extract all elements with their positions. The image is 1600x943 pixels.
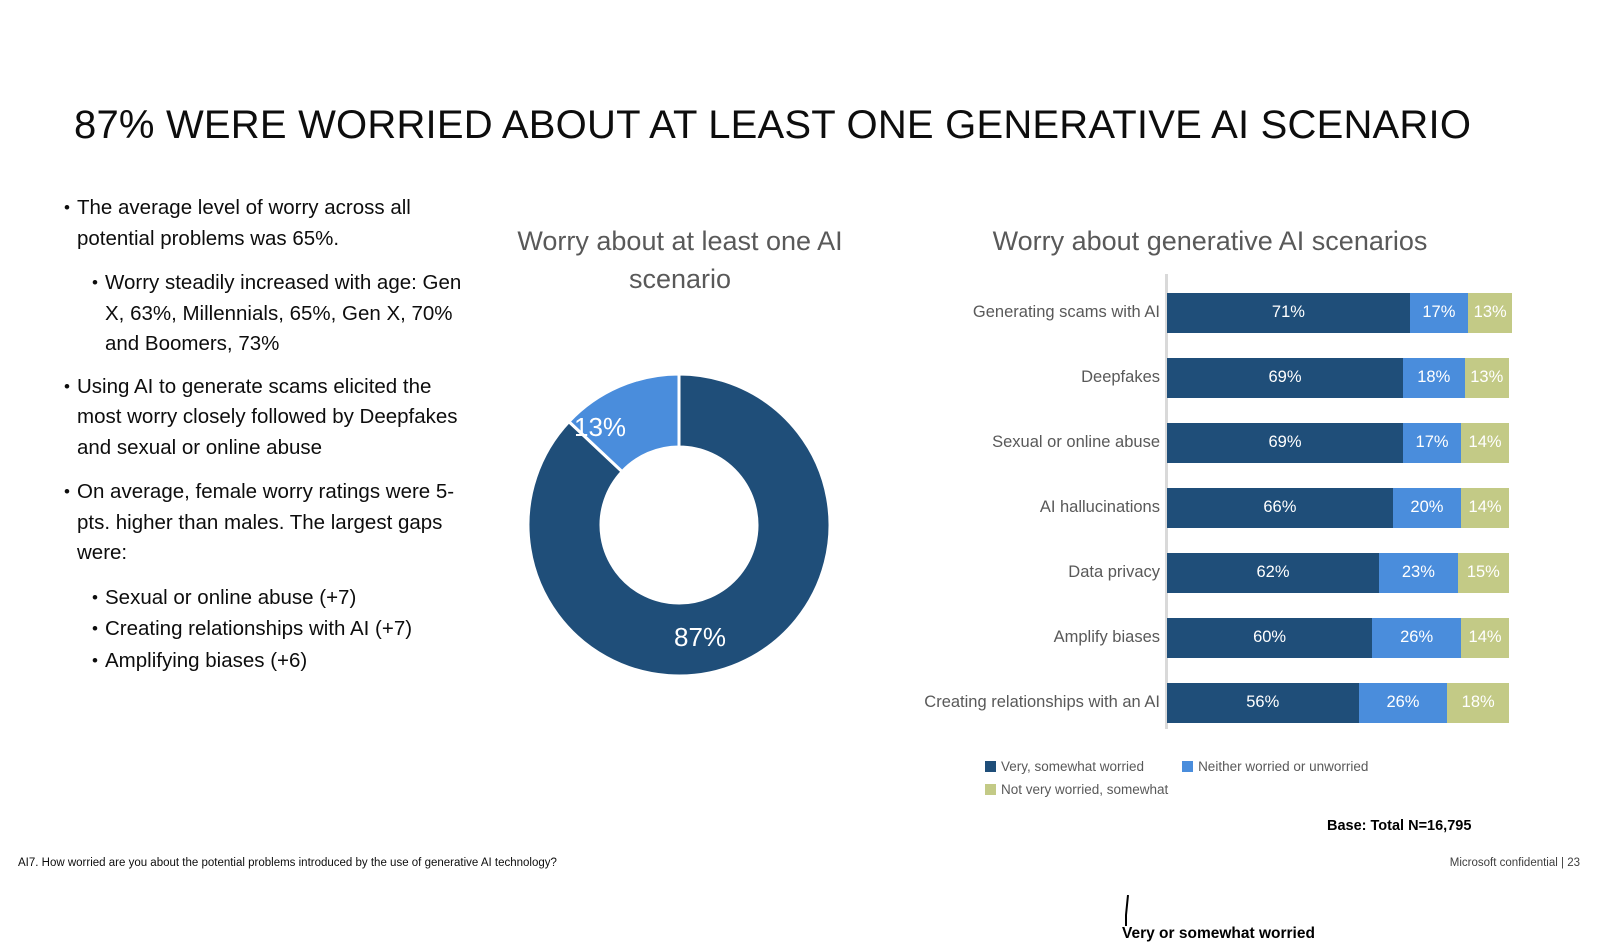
bar-segment[interactable]: 18%: [1403, 358, 1465, 398]
bar-category-label: Data privacy: [880, 563, 1167, 582]
bar-value-label: 20%: [1410, 498, 1443, 517]
legend-label: Neither worried or unworried: [1198, 759, 1368, 774]
bullet-dot-icon: •: [64, 372, 77, 403]
list-item: • On average, female worry ratings were …: [64, 477, 464, 569]
bullet-text: The average level of worry across all po…: [77, 193, 464, 254]
bar-segment[interactable]: 13%: [1465, 358, 1509, 398]
slide-canvas: 87% WERE WORRIED ABOUT AT LEAST ONE GENE…: [0, 0, 1600, 900]
bar-segment[interactable]: 26%: [1359, 683, 1448, 723]
legend-item-not-very-worried[interactable]: Not very worried, somewhat: [985, 782, 1168, 797]
bar-segment[interactable]: 13%: [1468, 293, 1512, 333]
legend-item-neither[interactable]: Neither worried or unworried: [1182, 759, 1368, 774]
bar-value-label: 13%: [1474, 303, 1507, 322]
list-item: • Using AI to generate scams elicited th…: [64, 372, 464, 464]
footer-source-note: AI7. How worried are you about the poten…: [18, 857, 557, 869]
bar-value-label: 15%: [1467, 563, 1500, 582]
bar-value-label: 13%: [1470, 368, 1503, 387]
bar-segment[interactable]: 26%: [1372, 618, 1461, 658]
bar-segment[interactable]: 15%: [1458, 553, 1509, 593]
chart-legend: Very, somewhat worried Neither worried o…: [985, 755, 1505, 801]
bullet-dot-icon: •: [64, 193, 77, 224]
bar-value-label: 18%: [1462, 693, 1495, 712]
bar-segment[interactable]: 20%: [1393, 488, 1461, 528]
bar-category-label: Amplify biases: [880, 628, 1167, 647]
donut-chart-title: Worry about at least one AI scenario: [500, 222, 860, 298]
bullet-dot-icon: •: [92, 614, 105, 645]
bar-track: 56%26%18%: [1167, 683, 1509, 723]
bar-segment[interactable]: 71%: [1167, 293, 1410, 333]
bar-chart-row: Deepfakes69%18%13%: [880, 345, 1540, 410]
legend-label: Very, somewhat worried: [1001, 759, 1144, 774]
bar-category-label: Sexual or online abuse: [880, 433, 1167, 452]
bar-chart-row: AI hallucinations66%20%14%: [880, 475, 1540, 540]
bar-segment[interactable]: 14%: [1461, 488, 1509, 528]
bar-category-label: Deepfakes: [880, 368, 1167, 387]
bar-chart-rows: Generating scams with AI71%17%13%Deepfak…: [880, 280, 1540, 735]
bar-value-label: 60%: [1253, 628, 1286, 647]
bar-chart-row: Creating relationships with an AI56%26%1…: [880, 670, 1540, 735]
bullet-list: • The average level of worry across all …: [64, 193, 464, 677]
list-item: • Creating relationships with AI (+7): [64, 614, 464, 645]
bar-segment[interactable]: 14%: [1461, 423, 1509, 463]
bar-category-label: Generating scams with AI: [880, 303, 1167, 322]
bar-value-label: 14%: [1469, 628, 1502, 647]
bar-value-label: 23%: [1402, 563, 1435, 582]
bullet-dot-icon: •: [92, 646, 105, 677]
bullet-text: Creating relationships with AI (+7): [105, 614, 464, 645]
bar-segment[interactable]: 62%: [1167, 553, 1379, 593]
bar-segment[interactable]: 60%: [1167, 618, 1372, 658]
bullet-text: On average, female worry ratings were 5-…: [77, 477, 464, 569]
bar-segment[interactable]: 14%: [1461, 618, 1509, 658]
bar-track: 62%23%15%: [1167, 553, 1509, 593]
list-item: • Amplifying biases (+6): [64, 646, 464, 677]
bullet-dot-icon: •: [92, 268, 105, 299]
bullet-dot-icon: •: [64, 477, 77, 508]
legend-row: Very, somewhat worried Neither worried o…: [985, 755, 1505, 778]
bar-track: 71%17%13%: [1167, 293, 1512, 333]
donut-chart-panel: Worry about at least one AI scenario 87%…: [500, 222, 860, 742]
bar-segment[interactable]: 69%: [1167, 423, 1403, 463]
legend-label: Not very worried, somewhat: [1001, 782, 1168, 797]
bar-value-label: 14%: [1469, 498, 1502, 517]
bar-chart-row: Data privacy62%23%15%: [880, 540, 1540, 605]
page-title: 87% WERE WORRIED ABOUT AT LEAST ONE GENE…: [74, 103, 1471, 148]
bar-segment[interactable]: 66%: [1167, 488, 1393, 528]
bar-segment[interactable]: 69%: [1167, 358, 1403, 398]
bar-value-label: 17%: [1422, 303, 1455, 322]
legend-swatch-icon: [1182, 761, 1193, 772]
legend-row: Not very worried, somewhat: [985, 778, 1505, 801]
donut-value-label-primary: 87%: [674, 622, 726, 653]
list-item: • Worry steadily increased with age: Gen…: [64, 268, 464, 360]
bar-value-label: 62%: [1257, 563, 1290, 582]
bar-segment[interactable]: 17%: [1403, 423, 1461, 463]
bar-value-label: 69%: [1268, 433, 1301, 452]
bar-category-label: Creating relationships with an AI: [880, 693, 1167, 712]
bar-value-label: 17%: [1416, 433, 1449, 452]
bar-value-label: 69%: [1268, 368, 1301, 387]
bullet-dot-icon: •: [92, 583, 105, 614]
legend-swatch-icon: [985, 784, 996, 795]
bar-chart-panel: Worry about generative AI scenarios Gene…: [880, 222, 1540, 822]
bar-value-label: 18%: [1417, 368, 1450, 387]
bar-chart-row: Generating scams with AI71%17%13%: [880, 280, 1540, 345]
donut-callout-label: Very or somewhat worried: [1122, 925, 1315, 943]
bar-category-label: AI hallucinations: [880, 498, 1167, 517]
bar-chart-title: Worry about generative AI scenarios: [880, 222, 1540, 260]
bar-segment[interactable]: 17%: [1410, 293, 1468, 333]
footer-confidential-label: Microsoft confidential | 23: [1450, 857, 1580, 869]
legend-swatch-icon: [985, 761, 996, 772]
bar-value-label: 26%: [1400, 628, 1433, 647]
bullet-text: Sexual or online abuse (+7): [105, 583, 464, 614]
bullet-text: Using AI to generate scams elicited the …: [77, 372, 464, 464]
bar-track: 69%17%14%: [1167, 423, 1509, 463]
bar-chart-row: Sexual or online abuse69%17%14%: [880, 410, 1540, 475]
bar-chart-row: Amplify biases60%26%14%: [880, 605, 1540, 670]
bar-track: 60%26%14%: [1167, 618, 1509, 658]
bullet-text: Amplifying biases (+6): [105, 646, 464, 677]
bar-segment[interactable]: 56%: [1167, 683, 1359, 723]
bar-value-label: 26%: [1386, 693, 1419, 712]
bar-value-label: 14%: [1469, 433, 1502, 452]
bar-value-label: 71%: [1272, 303, 1305, 322]
legend-item-very-somewhat-worried[interactable]: Very, somewhat worried: [985, 759, 1144, 774]
list-item: • Sexual or online abuse (+7): [64, 583, 464, 614]
list-item: • The average level of worry across all …: [64, 193, 464, 254]
bar-segment[interactable]: 18%: [1447, 683, 1509, 723]
base-note: Base: Total N=16,795: [1327, 818, 1471, 834]
bullet-text: Worry steadily increased with age: Gen X…: [105, 268, 464, 360]
bar-track: 66%20%14%: [1167, 488, 1509, 528]
bar-track: 69%18%13%: [1167, 358, 1509, 398]
donut-value-label-secondary: 13%: [574, 412, 626, 443]
bar-segment[interactable]: 23%: [1379, 553, 1458, 593]
bar-value-label: 66%: [1263, 498, 1296, 517]
bar-value-label: 56%: [1246, 693, 1279, 712]
